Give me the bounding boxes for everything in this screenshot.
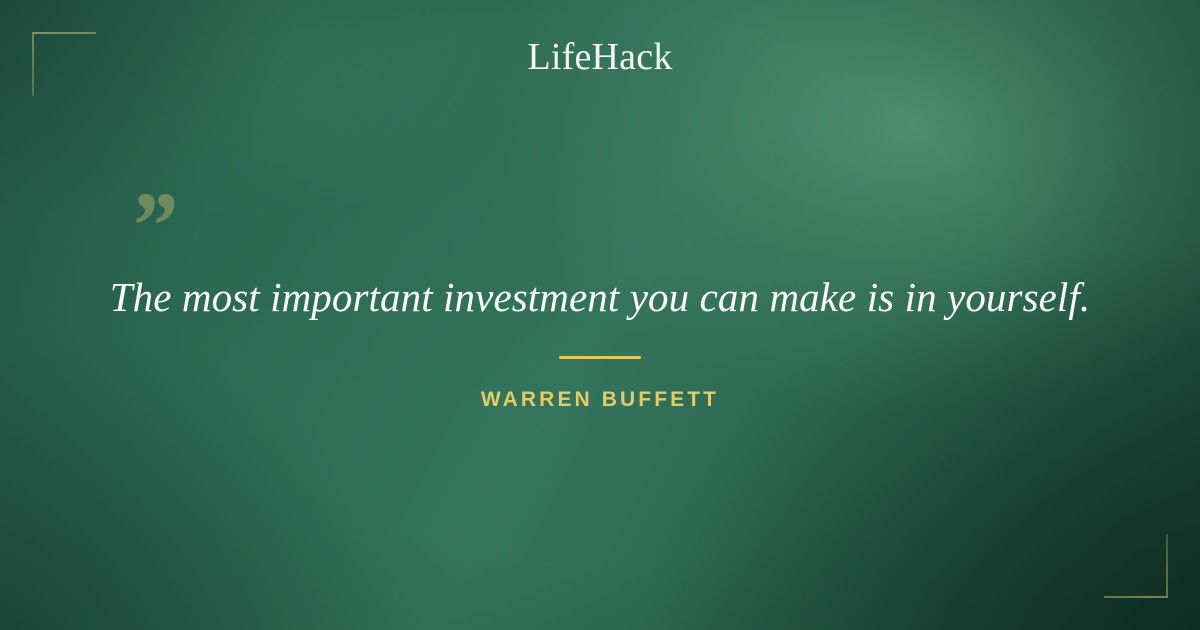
brand-logo: LifeHack: [0, 38, 1200, 78]
quote-author: WARREN BUFFETT: [0, 388, 1200, 412]
quotation-mark-icon: ”: [128, 178, 176, 274]
quote-card: LifeHack ” The most important investment…: [0, 0, 1200, 630]
quote-text: The most important investment you can ma…: [80, 272, 1120, 322]
attribution-divider: [559, 356, 641, 359]
corner-bracket-bottom-right-icon: [1104, 534, 1168, 598]
